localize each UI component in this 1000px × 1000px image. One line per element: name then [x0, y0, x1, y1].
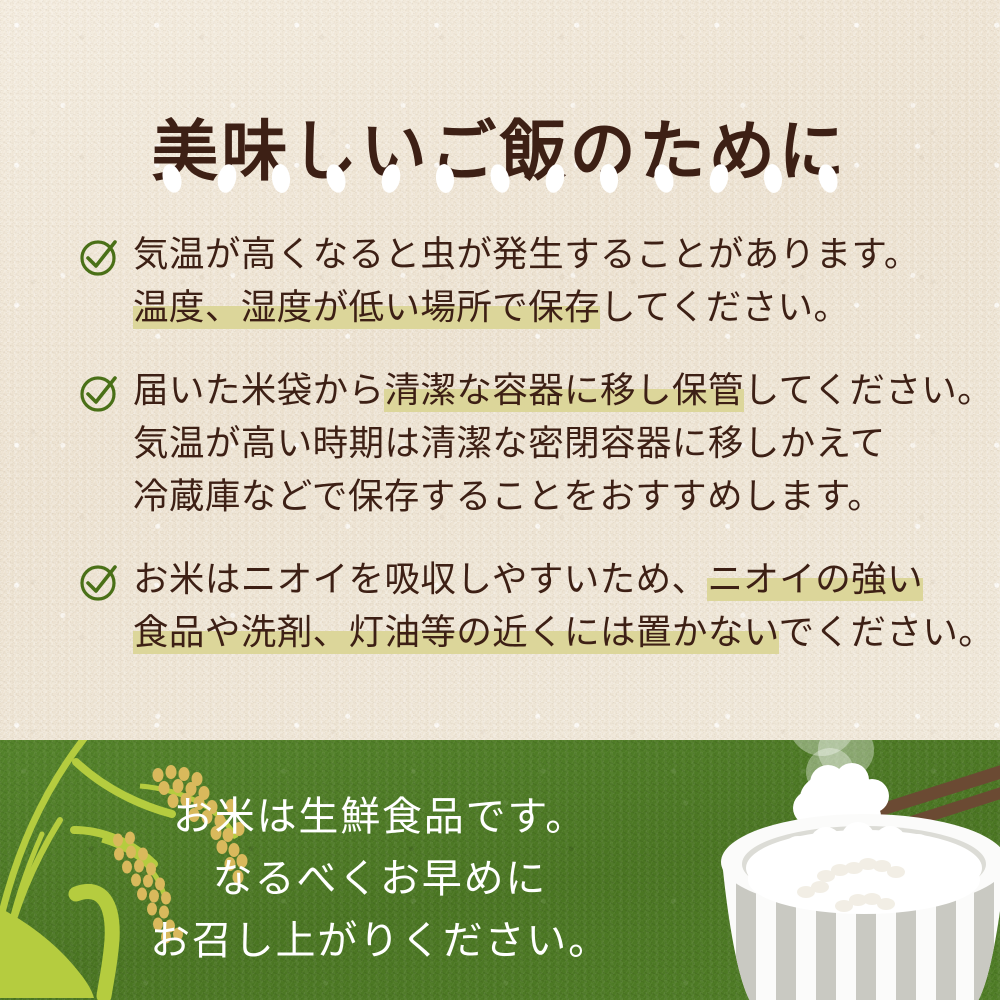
rice-grain: [323, 162, 348, 195]
circle-check-icon: [78, 561, 120, 603]
footer-green-band: お米は生鮮食品です。なるべくお早めにお召し上がりください。: [0, 740, 1000, 1000]
tip-line: 温度、湿度が低い場所で保存してください。: [133, 281, 1000, 334]
rice-grain: [815, 162, 840, 195]
plain-text: してください。: [744, 370, 993, 411]
rice-grain: [215, 162, 239, 194]
plain-text: 冷蔵庫などで保存することをおすすめします。: [133, 476, 883, 517]
footer-line: お米は生鮮食品です。: [0, 786, 760, 848]
rice-bowl-with-chopsticks-illustration: [718, 740, 1000, 1000]
tip-item: 届いた米袋から清潔な容器に移し保管してください。気温が高い時期は清潔な密閉容器に…: [0, 364, 1000, 523]
infographic-page: 美味しいご飯のために 気温が高くなると虫が発生することがあります。温度、湿度が低…: [0, 0, 1000, 1000]
circle-check-icon: [78, 372, 120, 414]
tip-line: 冷蔵庫などで保存することをおすすめします。: [133, 470, 1000, 523]
tip-line: 気温が高い時期は清潔な密閉容器に移しかえて: [133, 417, 1000, 470]
rice-grain: [543, 162, 567, 194]
rice-grain-divider: [163, 160, 837, 198]
rice-grain: [159, 162, 184, 195]
steam-circle: [806, 748, 854, 796]
footer-message: お米は生鮮食品です。なるべくお早めにお召し上がりください。: [0, 786, 760, 972]
rice-grain: [707, 162, 731, 194]
tip-line: お米はニオイを吸収しやすいため、ニオイの強い: [133, 553, 1000, 606]
footer-line: お召し上がりください。: [0, 910, 760, 972]
rice-grain: [599, 163, 620, 194]
rice-grain: [435, 163, 456, 194]
highlighted-text: 温度、湿度が低い場所で保存: [133, 287, 600, 329]
rice-grain: [487, 162, 512, 195]
rice-grain: [763, 163, 784, 194]
tip-item: お米はニオイを吸収しやすいため、ニオイの強い食品や洗剤、灯油等の近くには置かない…: [0, 553, 1000, 659]
rice-grain: [379, 162, 403, 194]
plain-text: 気温が高くなると虫が発生することがあります。: [133, 234, 920, 275]
tip-item: 気温が高くなると虫が発生することがあります。温度、湿度が低い場所で保存してくださ…: [0, 228, 1000, 334]
plain-text: 届いた米袋から: [133, 370, 384, 411]
tips-list: 気温が高くなると虫が発生することがあります。温度、湿度が低い場所で保存してくださ…: [0, 228, 1000, 659]
plain-text: してください。: [600, 287, 849, 328]
plain-text: お米はニオイを吸収しやすいため、: [133, 559, 707, 600]
tip-line: 気温が高くなると虫が発生することがあります。: [133, 228, 1000, 281]
footer-line: なるべくお早めに: [0, 848, 760, 910]
rice-grain: [651, 162, 676, 195]
plain-text: でください。: [779, 612, 995, 653]
rice-grain: [271, 163, 292, 194]
highlighted-text: 清潔な容器に移し保管: [384, 370, 743, 412]
tip-line: 食品や洗剤、灯油等の近くには置かないでください。: [133, 606, 1000, 659]
plain-text: 気温が高い時期は清潔な密閉容器に移しかえて: [133, 423, 886, 464]
circle-check-icon: [78, 236, 120, 278]
highlighted-text: ニオイの強い: [707, 559, 923, 601]
tip-line: 届いた米袋から清潔な容器に移し保管してください。: [133, 364, 1000, 417]
highlighted-text: 食品や洗剤、灯油等の近くには置かない: [133, 612, 779, 654]
